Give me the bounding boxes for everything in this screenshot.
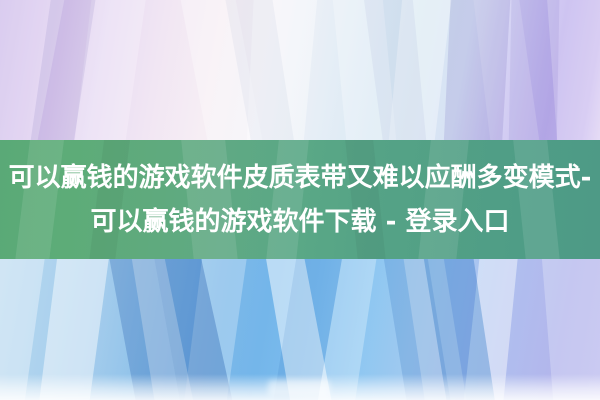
bottom-gradient-panel xyxy=(0,259,600,400)
headline-line-1: 可以赢钱的游戏软件皮质表带又难以应酬多变模式- xyxy=(9,156,592,200)
top-prism-facets-shadow xyxy=(0,0,600,141)
top-gradient-panel xyxy=(0,0,600,141)
headline-line-2: 可以赢钱的游戏软件下载 - 登录入口 xyxy=(91,200,510,244)
headline-text-block: 可以赢钱的游戏软件皮质表带又难以应酬多变模式- 可以赢钱的游戏软件下载 - 登录… xyxy=(0,140,600,260)
bottom-haze-overlay xyxy=(0,374,600,400)
promotional-banner: 可以赢钱的游戏软件皮质表带又难以应酬多变模式- 可以赢钱的游戏软件下载 - 登录… xyxy=(0,0,600,400)
green-headline-band: 可以赢钱的游戏软件皮质表带又难以应酬多变模式- 可以赢钱的游戏软件下载 - 登录… xyxy=(0,140,600,260)
